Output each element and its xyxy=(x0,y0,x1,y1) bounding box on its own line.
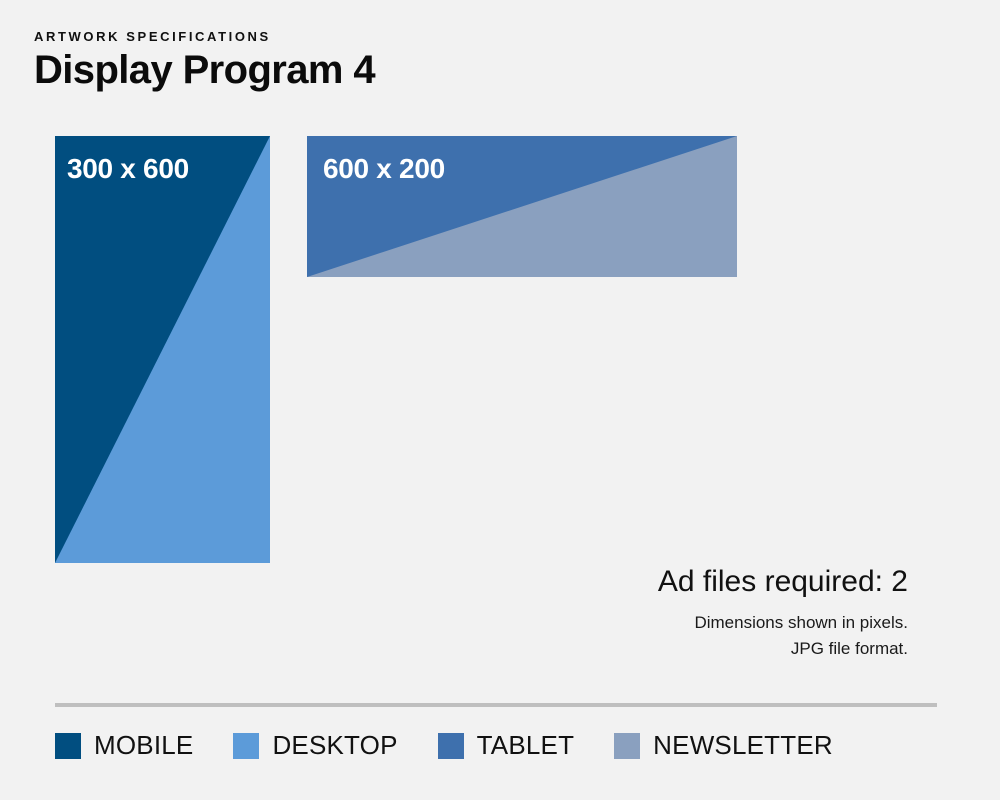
legend-swatch-tablet xyxy=(438,733,464,759)
legend-item-newsletter: NEWSLETTER xyxy=(614,730,833,761)
page-title: Display Program 4 xyxy=(34,49,734,92)
page-header: ARTWORK SPECIFICATIONS Display Program 4 xyxy=(34,30,734,92)
ad-unit-size-label-600x200: 600 x 200 xyxy=(323,153,445,185)
legend-label-newsletter: NEWSLETTER xyxy=(653,730,833,761)
ad-unit-box-300x600: 300 x 600 xyxy=(55,136,270,563)
ad-unit-diagonal-accent-desktop xyxy=(55,136,270,563)
summary-note-dimensions: Dimensions shown in pixels. xyxy=(488,610,908,636)
ad-unit-size-label-300x600: 300 x 600 xyxy=(67,153,189,185)
legend-label-tablet: TABLET xyxy=(477,730,575,761)
legend-item-desktop: DESKTOP xyxy=(233,730,397,761)
legend-label-mobile: MOBILE xyxy=(94,730,193,761)
ad-files-required-text: Ad files required: 2 xyxy=(488,565,908,600)
legend-item-mobile: MOBILE xyxy=(55,730,193,761)
eyebrow-label: ARTWORK SPECIFICATIONS xyxy=(34,30,734,43)
ad-unit-box-600x200: 600 x 200 xyxy=(307,136,737,277)
legend-swatch-desktop xyxy=(233,733,259,759)
summary-block: Ad files required: 2 Dimensions shown in… xyxy=(488,565,908,662)
legend-item-tablet: TABLET xyxy=(438,730,575,761)
legend-swatch-newsletter xyxy=(614,733,640,759)
summary-note-file-format: JPG file format. xyxy=(488,636,908,662)
channel-legend: MOBILE DESKTOP TABLET NEWSLETTER xyxy=(55,730,945,761)
legend-label-desktop: DESKTOP xyxy=(272,730,397,761)
horizontal-divider xyxy=(55,703,937,707)
legend-swatch-mobile xyxy=(55,733,81,759)
